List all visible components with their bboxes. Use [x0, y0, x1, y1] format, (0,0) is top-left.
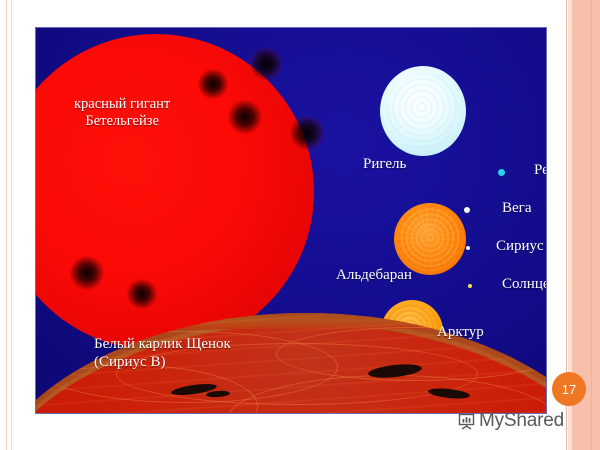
slide-canvas: красный гигант Бетельгейзе Ригель Альдеб…: [0, 0, 600, 450]
starspot: [70, 256, 104, 290]
label-rigel: Ригель: [363, 156, 406, 174]
star-dot-icon: [464, 207, 470, 213]
rigel-star-sphere: [380, 66, 466, 156]
left-border-line-outer: [6, 0, 7, 450]
label-aldebaran: Альдебаран: [336, 267, 412, 285]
projector-screen-icon: [458, 413, 475, 430]
star-dot-icon: [466, 246, 470, 250]
label-arcturus: Арктур: [437, 324, 484, 342]
star-comparison-list: РегулВегаСириусСолнце: [456, 158, 546, 310]
starspot: [198, 69, 228, 99]
right-border-line-inner2: [591, 0, 592, 450]
star-list-item: Сириус: [456, 234, 546, 272]
star-list-item: Вега: [456, 196, 546, 234]
label-white-dwarf-sirius-b: Белый карлик Щенок (Сириус В): [94, 336, 231, 371]
myshared-watermark: MyShared: [458, 410, 564, 432]
star-list-label: Регул: [534, 162, 546, 179]
label-red-giant-betelgeuse: красный гигант Бетельгейзе: [74, 96, 170, 130]
starspot: [228, 100, 262, 134]
myshared-watermark-text: MyShared: [479, 410, 564, 432]
page-number-badge: 17: [552, 372, 586, 406]
left-border-line-inner: [11, 0, 12, 450]
star-list-label: Солнце: [502, 276, 546, 293]
star-list-label: Вега: [502, 200, 531, 217]
star-dot-icon: [468, 284, 472, 288]
starspot: [127, 279, 157, 309]
astronomy-illustration: красный гигант Бетельгейзе Ригель Альдеб…: [36, 28, 546, 413]
star-list-item: Регул: [456, 158, 546, 196]
star-dot-icon: [498, 169, 505, 176]
star-list-item: Солнце: [456, 272, 546, 310]
star-list-label: Сириус: [496, 238, 544, 255]
